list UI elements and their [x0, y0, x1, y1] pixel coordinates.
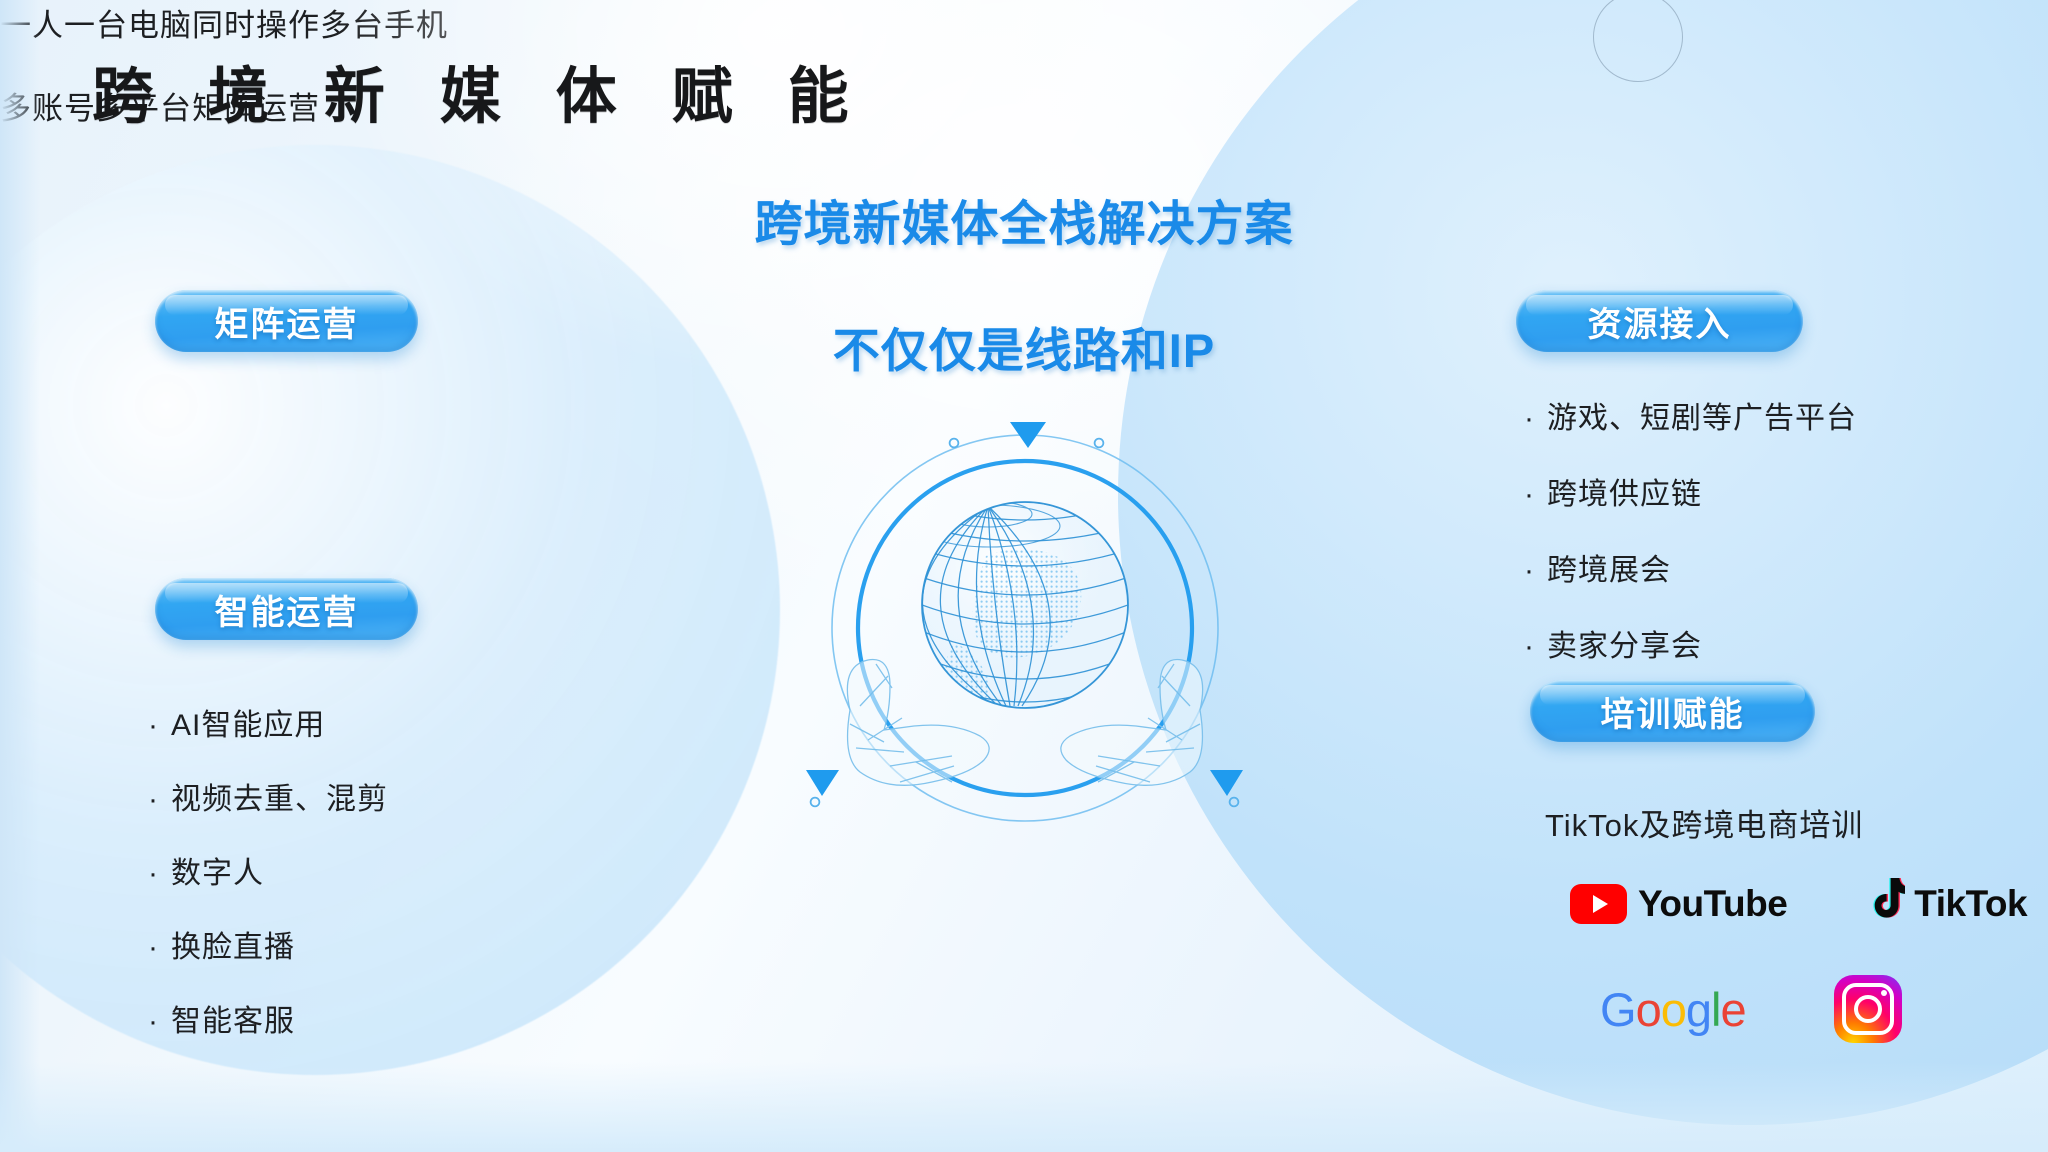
decorative-edge-bottom	[0, 1062, 2048, 1152]
bullet-dot-icon: ·	[148, 711, 159, 741]
google-logo: Google	[1600, 982, 1746, 1037]
section-pill-matrix-operations[interactable]: 矩阵运营	[155, 290, 418, 352]
google-letter-g1: G	[1600, 983, 1636, 1036]
list-item: · 视频去重、混剪	[148, 774, 388, 818]
google-letter-g2: g	[1686, 983, 1711, 1036]
list-item: · 智能客服	[148, 996, 388, 1040]
bullet-dot-icon: ·	[148, 859, 159, 889]
pill-label: 矩阵运营	[215, 297, 359, 346]
headline-primary: 跨境新媒体全栈解决方案	[0, 184, 2048, 254]
list-item-label: 跨境供应链	[1547, 469, 1702, 513]
bullet-dot-icon: ·	[1524, 404, 1535, 434]
platform-logo-row-top: YouTube TikTok	[1570, 876, 2027, 931]
tiktok-logo: TikTok	[1861, 876, 2027, 931]
pill-label: 智能运营	[215, 585, 359, 634]
tiktok-logo-label: TikTok	[1914, 883, 2027, 925]
google-letter-o1: o	[1636, 983, 1661, 1036]
list-item: · 卖家分享会	[1524, 621, 1857, 665]
platform-logo-row-bottom: Google	[1600, 975, 1902, 1043]
bullet-dot-icon: ·	[148, 1007, 159, 1037]
instagram-logo	[1834, 975, 1902, 1043]
globe-in-hands-illustration	[790, 410, 1260, 850]
bullet-dot-icon: ·	[148, 933, 159, 963]
google-letter-o2: o	[1661, 983, 1686, 1036]
youtube-logo: YouTube	[1570, 883, 1787, 925]
bullet-dot-icon: ·	[148, 785, 159, 815]
list-item-label: AI智能应用	[171, 700, 325, 744]
bullet-dot-icon: ·	[1524, 632, 1535, 662]
section-pill-resource-access[interactable]: 资源接入	[1516, 290, 1803, 352]
training-description: TikTok及跨境电商培训	[1545, 800, 1863, 845]
list-item: · 换脸直播	[148, 922, 388, 966]
list-item: · 跨境展会	[1524, 545, 1857, 589]
youtube-logo-label: YouTube	[1638, 883, 1787, 925]
youtube-play-badge-icon	[1570, 884, 1627, 924]
list-item: · 数字人	[148, 848, 388, 892]
decorative-edge-left	[0, 0, 40, 1152]
list-item-label: 智能客服	[171, 996, 295, 1040]
pill-label: 培训赋能	[1601, 687, 1745, 736]
list-item-label: 跨境展会	[1547, 545, 1671, 589]
list-item-label: 数字人	[171, 848, 264, 892]
list-item: · AI智能应用	[148, 700, 388, 744]
section-pill-smart-operations[interactable]: 智能运营	[155, 578, 418, 640]
list-item-label: 卖家分享会	[1547, 621, 1702, 665]
list-item-label: 视频去重、混剪	[171, 774, 388, 818]
list-item: · 跨境供应链	[1524, 469, 1857, 513]
slide-canvas: 跨 境 新 媒 体 赋 能 跨境新媒体全栈解决方案 不仅仅是线路和IP 矩阵运营…	[0, 0, 2048, 1152]
list-item-label: 换脸直播	[171, 922, 295, 966]
instagram-flash-dot-icon	[1881, 990, 1887, 996]
list-item: · 游戏、短剧等广告平台	[1524, 393, 1857, 437]
globe-svg	[790, 410, 1260, 850]
bullet-dot-icon: ·	[1524, 480, 1535, 510]
section-pill-training-empowerment[interactable]: 培训赋能	[1530, 680, 1815, 742]
bullet-dot-icon: ·	[1524, 556, 1535, 586]
google-letter-e: e	[1720, 983, 1745, 1036]
tiktok-note-icon	[1861, 876, 1905, 931]
resource-access-bullet-list: · 游戏、短剧等广告平台 · 跨境供应链 · 跨境展会 · 卖家分享会	[1524, 393, 1857, 697]
smart-operations-bullet-list: · AI智能应用 · 视频去重、混剪 · 数字人 · 换脸直播 · 智能客服	[148, 700, 388, 1070]
page-title: 跨 境 新 媒 体 赋 能	[92, 46, 868, 135]
pill-label: 资源接入	[1588, 297, 1732, 346]
list-item-label: 游戏、短剧等广告平台	[1547, 393, 1857, 437]
